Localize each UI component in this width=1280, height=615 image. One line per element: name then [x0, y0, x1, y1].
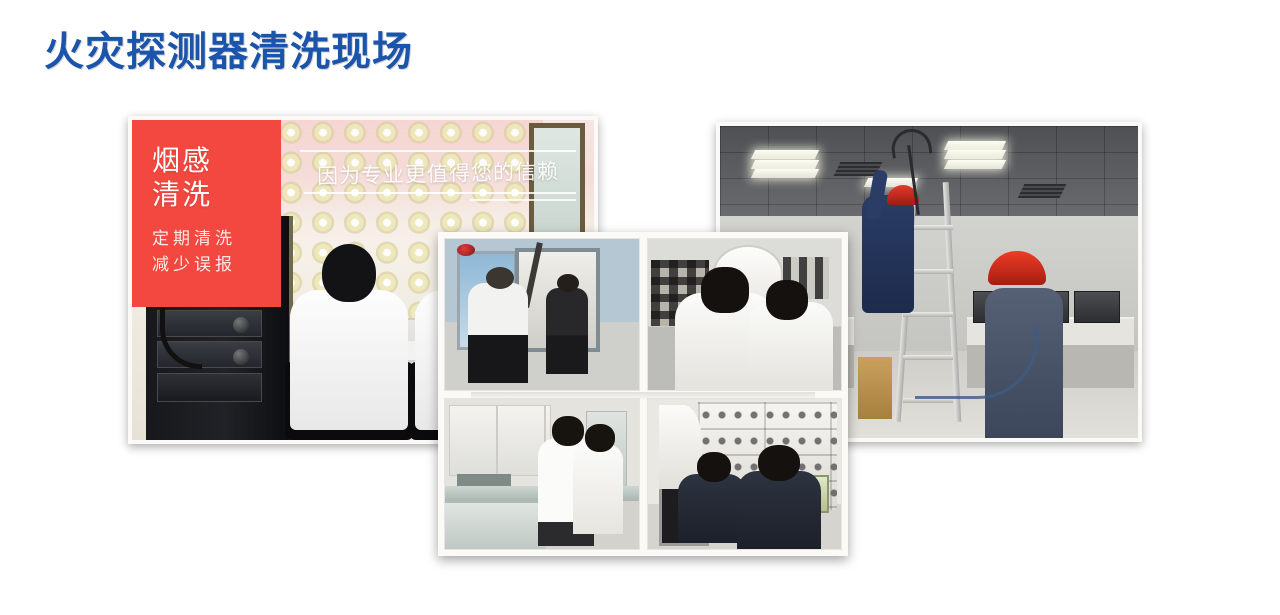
ceiling-light	[944, 160, 1006, 169]
rack-knob-icon	[233, 349, 249, 365]
ladder-step	[903, 398, 953, 403]
rack-display-panel	[157, 373, 262, 402]
slogan-rule-bottom-short	[470, 199, 576, 201]
head	[322, 244, 376, 302]
seated-technician	[284, 244, 414, 440]
ceiling-light	[751, 150, 819, 159]
console-screen	[1074, 291, 1120, 323]
badge-headline: 烟感 清洗	[152, 144, 281, 212]
ceiling-light	[751, 160, 819, 169]
badge-headline-line1: 烟感	[152, 144, 281, 178]
lab-coat	[290, 290, 408, 430]
wall-cabinets	[449, 405, 552, 476]
badge-subtext-line2: 减少误报	[152, 252, 281, 278]
rack-knob-icon	[233, 317, 249, 333]
ceiling-light	[751, 169, 819, 178]
photo-gallery: 因为专业更值得您的信赖 烟感 清洗 定期清洗 减少误报	[0, 0, 1280, 615]
collage-cell-1[interactable]	[444, 238, 640, 391]
collage-cell-2[interactable]	[647, 238, 843, 391]
ceiling-light	[944, 150, 1006, 159]
badge-subtext-line1: 定期清洗	[152, 226, 281, 252]
slogan-overlay: 因为专业更值得您的信赖	[300, 150, 576, 201]
warning-light-icon	[457, 244, 475, 256]
person-background	[546, 288, 588, 374]
collage-cell-4[interactable]	[647, 398, 843, 551]
ceiling-vent	[1018, 184, 1067, 198]
technician-right	[749, 302, 833, 389]
counter-base	[445, 501, 546, 549]
center-collage[interactable]	[438, 232, 848, 556]
collage-grid	[444, 238, 842, 550]
collage-cell-3[interactable]	[444, 398, 640, 551]
technician-right	[573, 444, 623, 534]
ceiling-light	[944, 141, 1006, 150]
badge-headline-line2: 清洗	[152, 178, 281, 212]
slogan-rule-bottom	[304, 192, 576, 194]
ladder-step	[903, 312, 953, 317]
smoke-detector-cleaning-badge[interactable]: 烟感 清洗 定期清洗 减少误报	[132, 120, 281, 307]
worker-right	[737, 471, 821, 549]
slogan-rule-top	[300, 150, 576, 152]
slogan-text: 因为专业更值得您的信赖	[300, 155, 577, 191]
person-foreground	[468, 283, 528, 383]
badge-subtext: 定期清洗 减少误报	[152, 226, 281, 277]
